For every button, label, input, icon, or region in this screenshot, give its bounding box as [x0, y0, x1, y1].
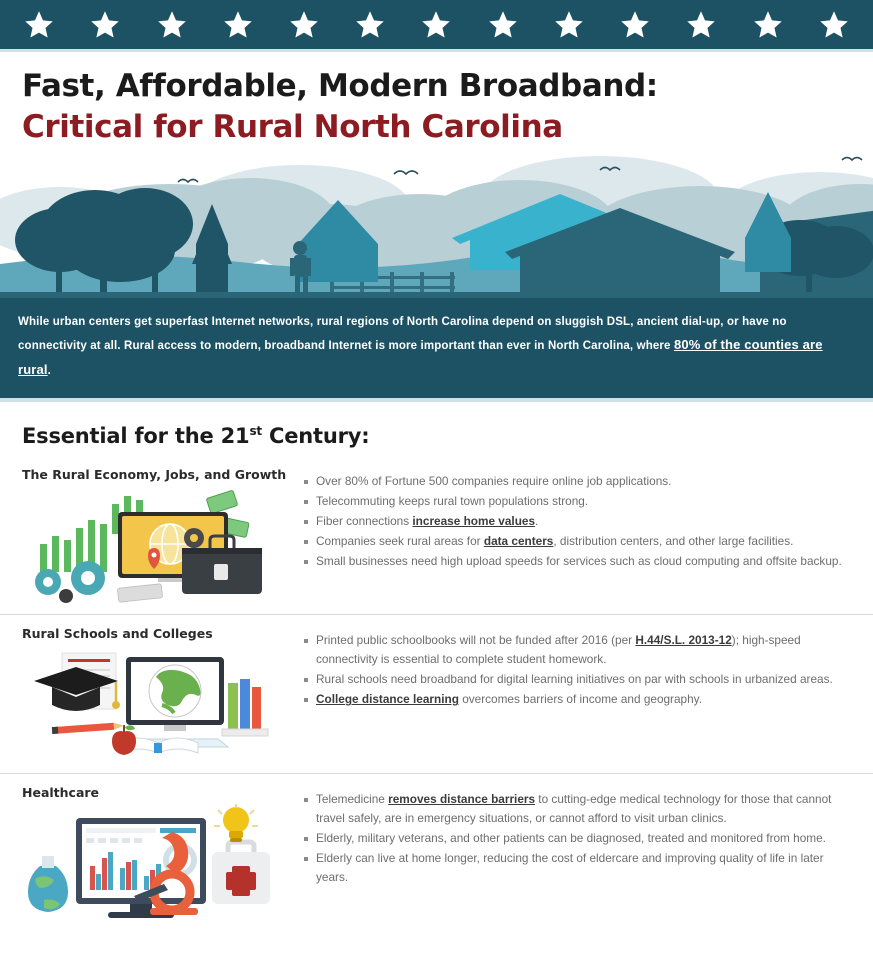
star-banner	[0, 0, 873, 52]
bullet-list: Printed public schoolbooks will not be f…	[302, 631, 855, 709]
section-title-healthcare: Healthcare	[22, 784, 290, 802]
bullet-item: Fiber connections increase home values.	[302, 512, 855, 531]
intro-banner: While urban centers get superfast Intern…	[0, 298, 873, 402]
bullet-item: Telecommuting keeps rural town populatio…	[302, 492, 855, 511]
section-title-rural-schools: Rural Schools and Colleges	[22, 625, 290, 643]
section-left-rural-schools: Rural Schools and Colleges	[22, 625, 290, 763]
section-healthcare: Healthcare	[0, 773, 873, 932]
healthcare-illustration	[22, 804, 272, 922]
bullet-text: Elderly, military veterans, and other pa…	[316, 831, 826, 845]
section-bullets-rural-economy: Over 80% of Fortune 500 companies requir…	[290, 466, 855, 573]
infographic-page: Fast, Affordable, Modern Broadband: Crit…	[0, 0, 873, 960]
bullet-item: Companies seek rural areas for data cent…	[302, 532, 855, 551]
content-sections: The Rural Economy, Jobs, and Growth	[0, 456, 873, 932]
banner-text-before: While urban centers get superfast Intern…	[18, 316, 787, 352]
section-bullets-rural-schools: Printed public schoolbooks will not be f…	[290, 625, 855, 710]
bullet-text: , distribution centers, and other large …	[553, 534, 793, 548]
star-icon	[421, 10, 451, 40]
bullet-item: College distance learning overcomes barr…	[302, 690, 855, 709]
star-icon	[355, 10, 385, 40]
star-icon	[488, 10, 518, 40]
bullet-link[interactable]: removes distance barriers	[388, 792, 535, 806]
section-title-rural-economy: The Rural Economy, Jobs, and Growth	[22, 466, 290, 484]
star-icon	[157, 10, 187, 40]
title-block: Fast, Affordable, Modern Broadband: Crit…	[0, 52, 873, 152]
star-icon	[819, 10, 849, 40]
bullet-text: Small businesses need high upload speeds…	[316, 554, 842, 568]
page-title-secondary: Critical for Rural North Carolina	[22, 109, 873, 146]
essential-heading-pre: Essential for the 21	[22, 424, 249, 448]
bullet-text: Elderly can live at home longer, reducin…	[316, 851, 824, 884]
economy-illustration	[22, 486, 272, 604]
education-illustration	[22, 645, 272, 763]
star-icon	[753, 10, 783, 40]
section-bullets-healthcare: Telemedicine removes distance barriers t…	[290, 784, 855, 889]
star-icon	[90, 10, 120, 40]
bullet-text: .	[535, 514, 538, 528]
bullet-item: Telemedicine removes distance barriers t…	[302, 790, 855, 828]
star-icon	[24, 10, 54, 40]
section-rural-schools: Rural Schools and Colleges	[0, 614, 873, 773]
bullet-item: Over 80% of Fortune 500 companies requir…	[302, 472, 855, 491]
section-left-healthcare: Healthcare	[22, 784, 290, 922]
bullet-list: Telemedicine removes distance barriers t…	[302, 790, 855, 888]
bullet-text: overcomes barriers of income and geograp…	[459, 692, 702, 706]
bullet-item: Printed public schoolbooks will not be f…	[302, 631, 855, 669]
bullet-link[interactable]: increase home values	[412, 514, 535, 528]
page-title-primary: Fast, Affordable, Modern Broadband:	[22, 68, 873, 105]
bullet-link[interactable]: data centers	[484, 534, 554, 548]
rural-landscape-illustration	[0, 152, 873, 298]
bullet-item: Elderly can live at home longer, reducin…	[302, 849, 855, 887]
bullet-item: Elderly, military veterans, and other pa…	[302, 829, 855, 848]
bullet-text: Over 80% of Fortune 500 companies requir…	[316, 474, 671, 488]
bullet-text: Printed public schoolbooks will not be f…	[316, 633, 635, 647]
bullet-item: Small businesses need high upload speeds…	[302, 552, 855, 571]
bullet-text: Telecommuting keeps rural town populatio…	[316, 494, 588, 508]
essential-heading-post: Century:	[262, 424, 370, 448]
bullet-text: Companies seek rural areas for	[316, 534, 484, 548]
section-heading-essential: Essential for the 21st Century:	[0, 402, 873, 456]
star-icon	[289, 10, 319, 40]
section-rural-economy: The Rural Economy, Jobs, and Growth	[0, 456, 873, 614]
section-left-rural-economy: The Rural Economy, Jobs, and Growth	[22, 466, 290, 604]
star-icon	[686, 10, 716, 40]
bullet-item: Rural schools need broadband for digital…	[302, 670, 855, 689]
bullet-text: Rural schools need broadband for digital…	[316, 672, 833, 686]
star-icon	[620, 10, 650, 40]
bullet-text: Fiber connections	[316, 514, 412, 528]
essential-heading-ordinal: st	[249, 424, 261, 438]
bullet-link[interactable]: College distance learning	[316, 692, 459, 706]
star-icon	[554, 10, 584, 40]
bullet-link[interactable]: H.44/S.L. 2013-12	[635, 633, 731, 647]
bullet-list: Over 80% of Fortune 500 companies requir…	[302, 472, 855, 572]
star-icon	[223, 10, 253, 40]
bullet-text: Telemedicine	[316, 792, 388, 806]
banner-text-after: .	[48, 365, 51, 377]
